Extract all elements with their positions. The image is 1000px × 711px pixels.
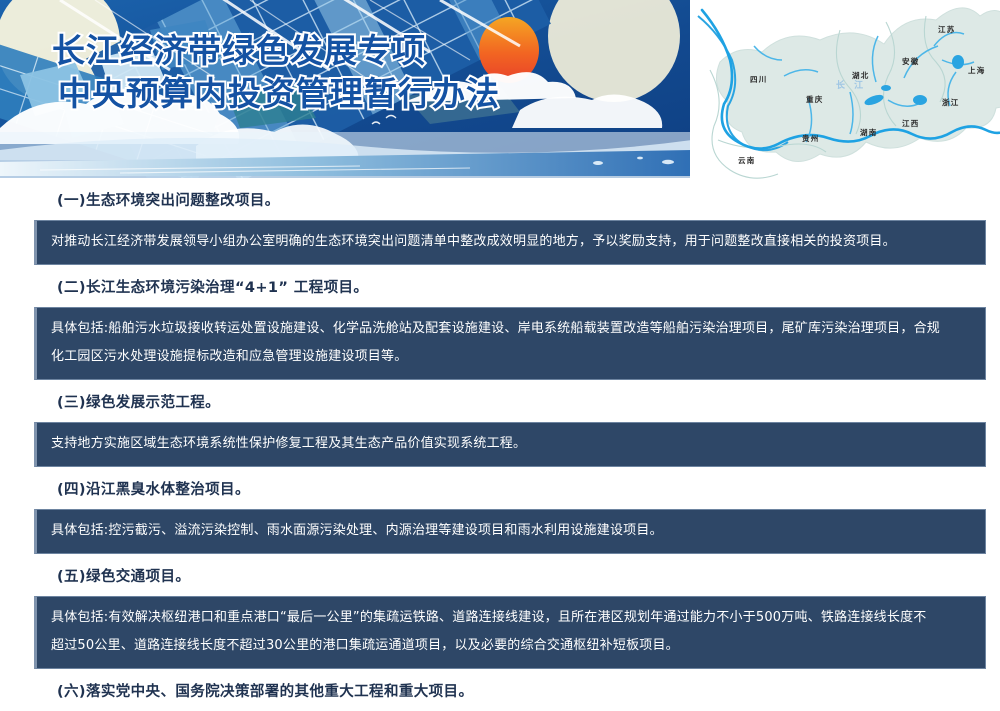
- section-content-box: 对推动长江经济带发展领导小组办公室明确的生态环境突出问题清单中整改成效明显的地方…: [34, 220, 986, 265]
- map-label-province: 贵州: [802, 133, 819, 144]
- section-heading: (一)生态环境突出问题整改项目。: [0, 178, 1000, 220]
- header-banner: 长江经济带绿色发展专项 中央预算内投资管理暂行办法: [0, 0, 692, 178]
- document-body: (一)生态环境突出问题整改项目。对推动长江经济带发展领导小组办公室明确的生态环境…: [0, 178, 1000, 711]
- section-heading: (五)绿色交通项目。: [0, 554, 1000, 596]
- section-heading: (六)落实党中央、国务院决策部署的其他重大工程和重大项目。: [0, 669, 1000, 711]
- section-body-line: 超过50公里、道路连接线长度不超过30公里的港口集疏运通道项目，以及必要的综合交…: [51, 632, 973, 660]
- section-body-line: 具体包括:船舶污水垃圾接收转运处置设施建设、化学品洗舱站及配套设施建设、岸电系统…: [51, 315, 973, 343]
- section-body-line: 具体包括:有效解决枢纽港口和重点港口“最后一公里”的集疏运铁路、道路连接线建设，…: [51, 604, 973, 632]
- document-page: 长江经济带绿色发展专项 中央预算内投资管理暂行办法: [0, 0, 1000, 707]
- banner-title: 长江经济带绿色发展专项 中央预算内投资管理暂行办法: [52, 34, 500, 112]
- map-label-province: 重庆: [806, 94, 823, 105]
- section-heading: (二)长江生态环境污染治理“4+1” 工程项目。: [0, 265, 1000, 307]
- section-content-box: 具体包括:船舶污水垃圾接收转运处置设施建设、化学品洗舱站及配套设施建设、岸电系统…: [34, 307, 986, 380]
- map-label-province: 江苏: [938, 24, 955, 35]
- section-body-line: 支持地方实施区域生态环境系统性保护修复工程及其生态产品价值实现系统工程。: [51, 430, 973, 458]
- banner-title-line-1: 长江经济带绿色发展专项: [52, 34, 500, 69]
- section-content-box: 支持地方实施区域生态环境系统性保护修复工程及其生态产品价值实现系统工程。: [34, 422, 986, 467]
- section-body-line: 化工园区污水处理设施提标改造和应急管理设施建设项目等。: [51, 343, 973, 371]
- yangtze-basin-map: 长 江 江苏安徽上海浙江江西湖北湖南重庆四川贵州云南: [690, 0, 1000, 186]
- section-heading: (四)沿江黑臭水体整治项目。: [0, 467, 1000, 509]
- map-label-province: 四川: [750, 74, 767, 85]
- section-body-line: 具体包括:控污截污、溢流污染控制、雨水面源污染处理、内源治理等建设项目和雨水利用…: [51, 517, 973, 545]
- map-label-province: 安徽: [902, 56, 919, 67]
- banner-title-line-2: 中央预算内投资管理暂行办法: [58, 77, 500, 112]
- section-heading: (三)绿色发展示范工程。: [0, 380, 1000, 422]
- section-body-line: 对推动长江经济带发展领导小组办公室明确的生态环境突出问题清单中整改成效明显的地方…: [51, 228, 973, 256]
- map-label-province: 湖北: [852, 70, 869, 81]
- map-label-province: 上海: [968, 65, 985, 76]
- map-label-province: 浙江: [942, 97, 959, 108]
- section-content-box: 具体包括:控污截污、溢流污染控制、雨水面源污染处理、内源治理等建设项目和雨水利用…: [34, 509, 986, 554]
- map-label-province: 江西: [902, 118, 919, 129]
- map-label-province: 湖南: [860, 127, 877, 138]
- section-content-box: 具体包括:有效解决枢纽港口和重点港口“最后一公里”的集疏运铁路、道路连接线建设，…: [34, 596, 986, 669]
- map-label-province: 云南: [738, 155, 755, 166]
